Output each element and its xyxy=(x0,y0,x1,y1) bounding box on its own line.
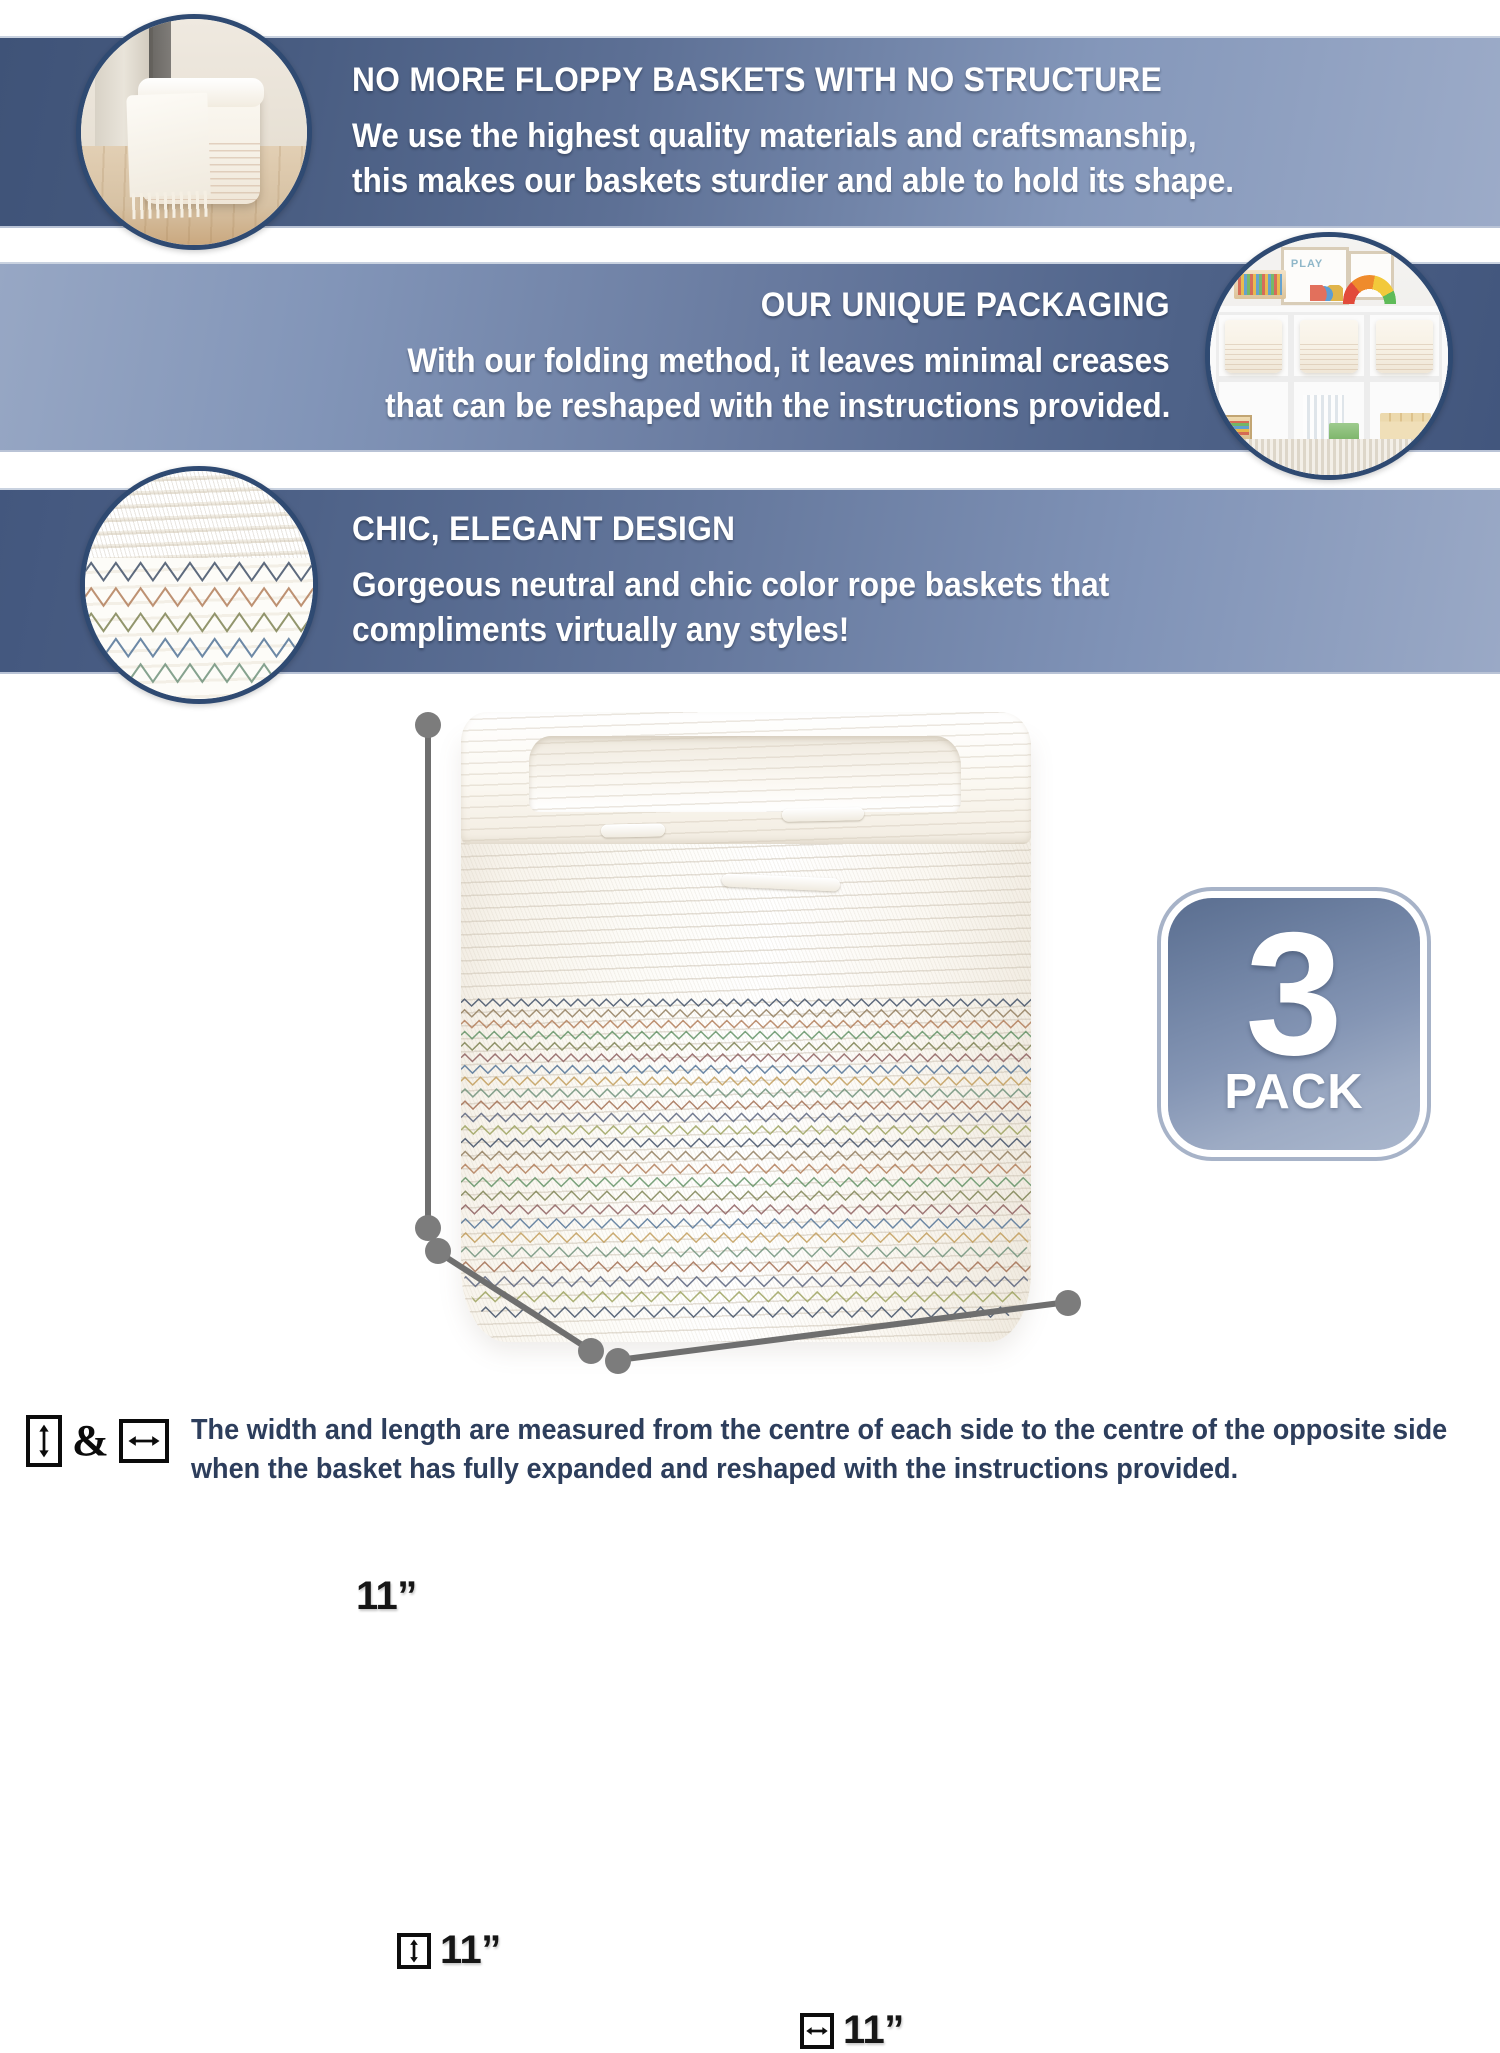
height-dimension-value: 11” xyxy=(356,1574,417,1618)
footer-ampersand: & xyxy=(72,1419,109,1463)
depth-arrow-icon xyxy=(397,1933,431,1969)
banner-design-body-line1: Gorgeous neutral and chic color rope bas… xyxy=(352,563,1234,608)
measurement-disclaimer: & The width and length are measured from… xyxy=(26,1411,1476,1489)
measurement-disclaimer-line2: when the basket has fully expanded and r… xyxy=(191,1450,1447,1489)
banner-packaging-body-line1: With our folding method, it leaves minim… xyxy=(408,339,1170,384)
height-dimension-label: 11” xyxy=(356,1574,417,1619)
banner-design-text: CHIC, ELEGANT DESIGN Gorgeous neutral an… xyxy=(352,490,1300,672)
banner-packaging-headline: OUR UNIQUE PACKAGING xyxy=(761,286,1170,325)
banner-structure-text: NO MORE FLOPPY BASKETS WITH NO STRUCTURE… xyxy=(352,38,1380,226)
wall-art-text: PLAY xyxy=(1291,258,1323,270)
basket-opening xyxy=(529,736,961,812)
photo-throw-blanket xyxy=(127,92,212,196)
depth-dimension-dot-bottom xyxy=(578,1338,604,1364)
shelf-cube-3 xyxy=(1367,312,1442,379)
depth-dimension-dot-top xyxy=(425,1238,451,1264)
wooden-blocks xyxy=(1380,413,1431,441)
cube-shelf-unit xyxy=(1210,306,1448,451)
width-dimension-label: 11” xyxy=(800,2008,904,2053)
pack-count-badge: 3 PACK xyxy=(1168,898,1420,1150)
shelf-cube-6 xyxy=(1367,379,1442,446)
pack-count-number: 3 xyxy=(1245,923,1342,1067)
width-dimension-dot-right xyxy=(1055,1290,1081,1316)
footer-width-arrow-icon xyxy=(119,1419,169,1463)
width-dimension-value: 11” xyxy=(843,2008,904,2053)
pack-count-word: PACK xyxy=(1224,1068,1363,1117)
shelf-basket-2 xyxy=(1300,320,1357,373)
basket-zigzag-color-band xyxy=(461,993,1031,1323)
basket-handle-left xyxy=(601,823,665,837)
main-basket-image xyxy=(437,696,1057,1361)
nursery-shelf-photo-content: PLAY xyxy=(1210,237,1448,475)
measurement-disclaimer-text: The width and length are measured from t… xyxy=(191,1411,1447,1489)
shelf-cube-1 xyxy=(1216,312,1291,379)
basket-handle-right xyxy=(782,807,864,822)
banner-structure-headline: NO MORE FLOPPY BASKETS WITH NO STRUCTURE xyxy=(352,61,1308,100)
banner-structure-body-line1: We use the highest quality materials and… xyxy=(352,114,1308,159)
banner-design-body-line2: compliments virtually any styles! xyxy=(352,608,1234,653)
peg-doll-toys xyxy=(1310,285,1343,302)
banner-packaging-body-line2: that can be reshaped with the instructio… xyxy=(385,384,1170,429)
width-dimension-dot-left xyxy=(605,1348,631,1374)
nursery-shelf-photo: PLAY xyxy=(1205,232,1453,480)
nursery-rug xyxy=(1210,439,1448,475)
basket-with-throw-photo-content xyxy=(81,19,307,245)
depth-dimension-value: 11” xyxy=(440,1928,501,1973)
shelf-basket-3 xyxy=(1376,320,1433,373)
basket-opening-coils xyxy=(529,736,961,812)
measurement-disclaimer-line1: The width and length are measured from t… xyxy=(191,1411,1447,1450)
banner-design-headline: CHIC, ELEGANT DESIGN xyxy=(352,510,1234,549)
shelf-basket-1 xyxy=(1225,320,1282,373)
basket-zigzag-svg xyxy=(461,993,1031,1323)
basket-with-throw-photo xyxy=(76,14,312,250)
height-dimension-dot-top xyxy=(415,712,441,738)
footer-depth-arrow-icon xyxy=(26,1415,62,1467)
wooden-bead-toy xyxy=(1224,415,1253,442)
rope-plain-coils xyxy=(85,471,313,558)
shelf-cube-4 xyxy=(1216,379,1291,446)
banner-packaging-text: OUR UNIQUE PACKAGING With our folding me… xyxy=(200,264,1170,450)
width-arrow-icon xyxy=(800,2013,834,2049)
banner-structure-body-line2: this makes our baskets sturdier and able… xyxy=(352,159,1308,204)
shelf-cube-5 xyxy=(1291,379,1366,446)
shelf-cube-2 xyxy=(1291,312,1366,379)
measurement-icons: & xyxy=(26,1411,169,1467)
wooden-abacus-toy xyxy=(1234,270,1286,299)
depth-dimension-label: 11” xyxy=(397,1928,501,1973)
